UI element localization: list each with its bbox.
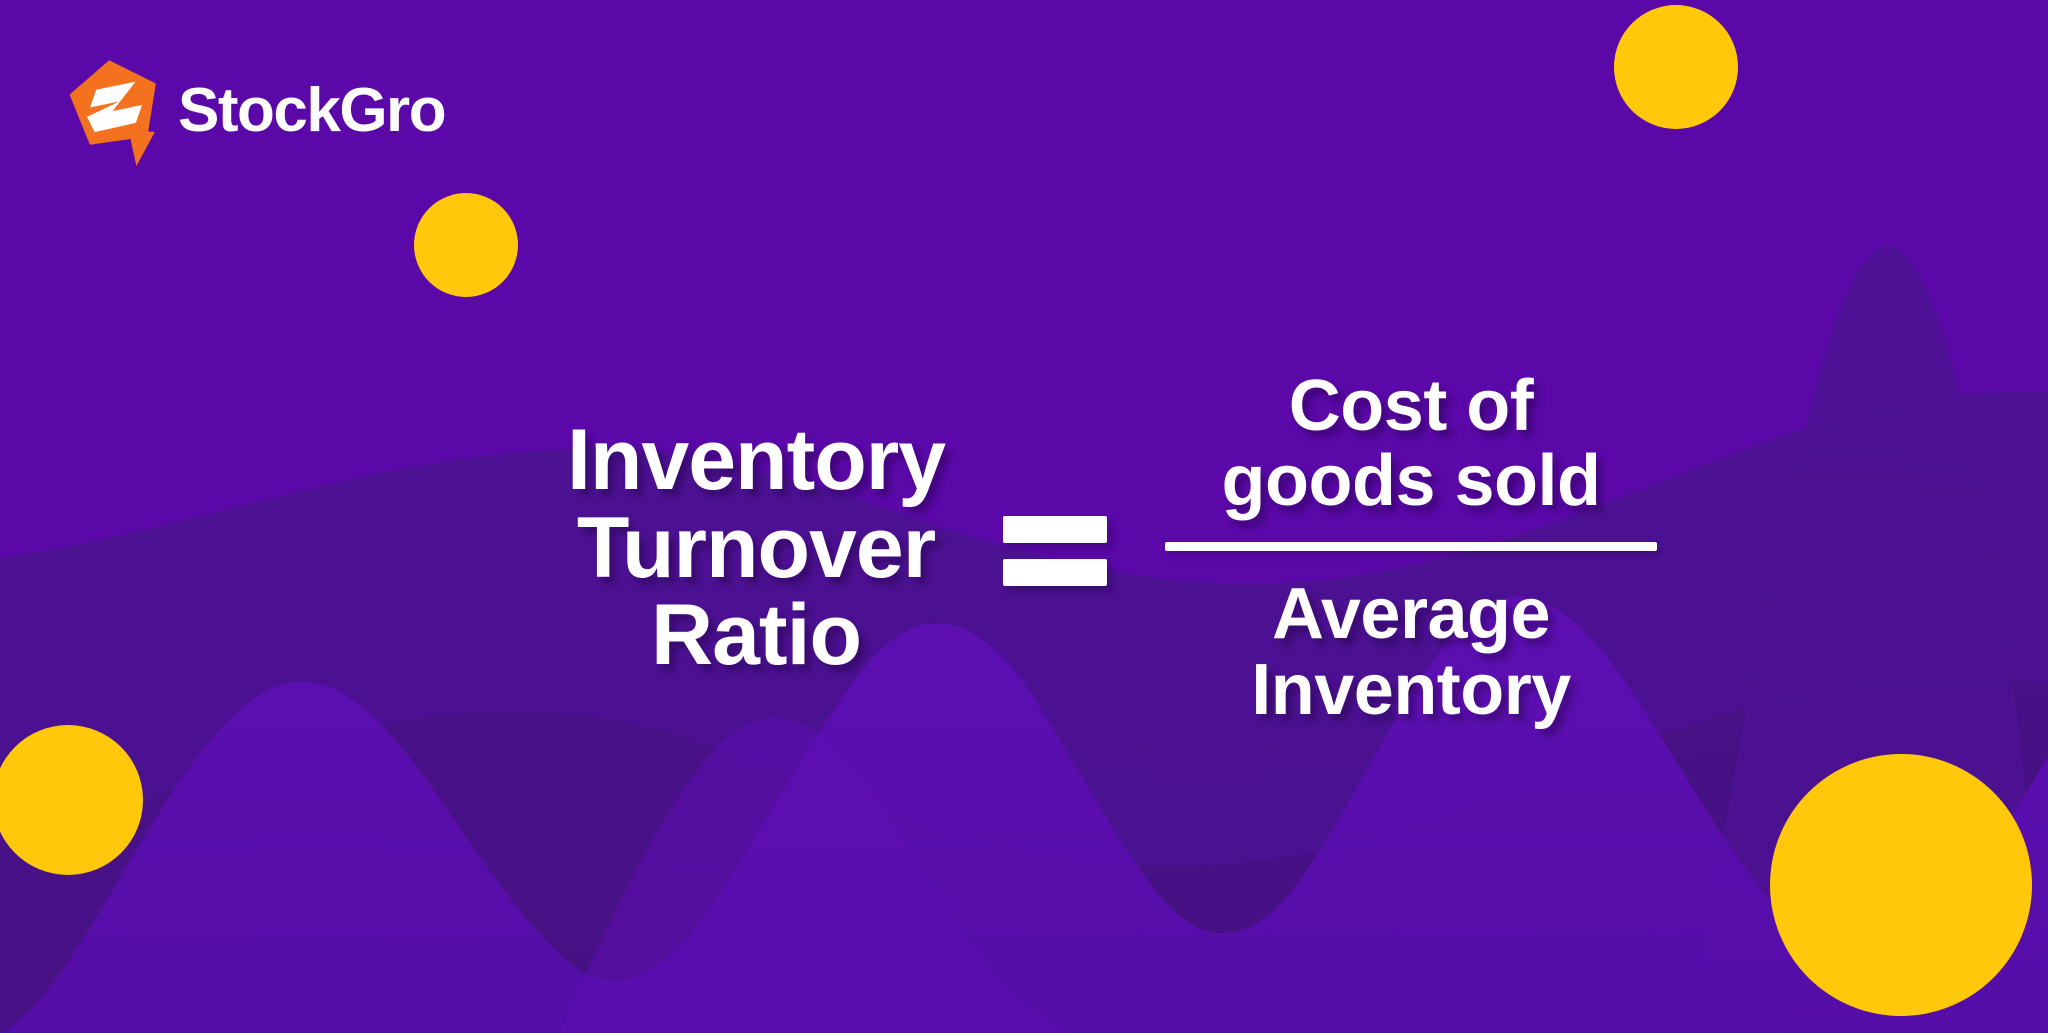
fraction-denominator: Average Inventory bbox=[1251, 551, 1571, 728]
brand-logo[interactable]: StockGro bbox=[68, 58, 445, 168]
brand-wordmark: StockGro bbox=[178, 80, 445, 142]
left-term-line-3: Ratio bbox=[567, 592, 945, 680]
banner-canvas: StockGro Inventory Turnover Ratio Cost o… bbox=[0, 0, 2048, 1033]
numerator-line-1: Cost of bbox=[1222, 369, 1601, 445]
equals-sign-icon bbox=[1003, 516, 1107, 586]
denominator-line-2: Inventory bbox=[1251, 653, 1571, 729]
numerator-line-2: goods sold bbox=[1222, 444, 1601, 520]
left-term: Inventory Turnover Ratio bbox=[567, 417, 945, 680]
fraction: Cost of goods sold Average Inventory bbox=[1165, 369, 1657, 728]
fraction-numerator: Cost of goods sold bbox=[1222, 369, 1601, 542]
left-term-line-2: Turnover bbox=[567, 505, 945, 593]
circle-upper-left bbox=[414, 193, 518, 297]
circle-top-right bbox=[1614, 5, 1738, 129]
circle-lower-left bbox=[0, 725, 143, 875]
denominator-line-1: Average bbox=[1251, 577, 1571, 653]
fraction-divider bbox=[1165, 542, 1657, 551]
left-term-line-1: Inventory bbox=[567, 417, 945, 505]
equals-bar-bottom bbox=[1003, 559, 1107, 586]
circle-bottom-right bbox=[1770, 754, 2032, 1016]
stockgro-bolt-pentagon-icon bbox=[68, 58, 164, 168]
equals-bar-top bbox=[1003, 516, 1107, 543]
